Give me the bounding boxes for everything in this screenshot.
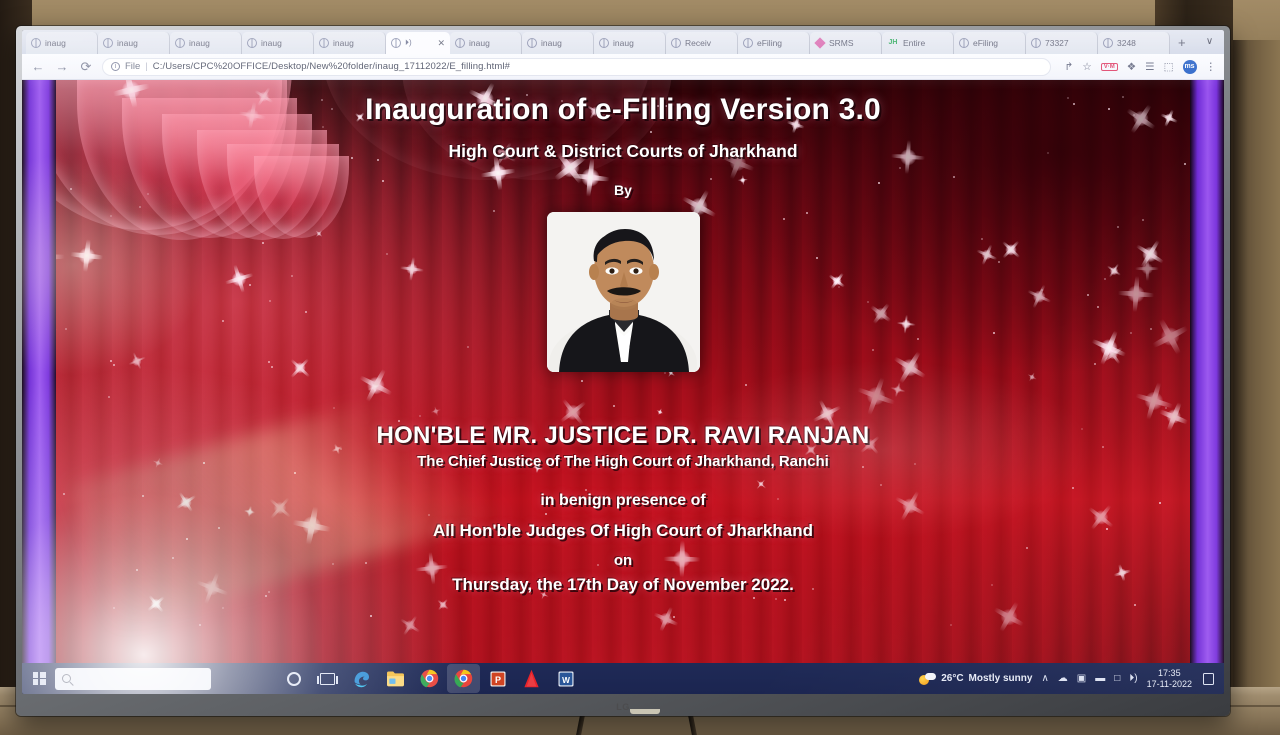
globe-icon [391, 38, 401, 48]
tab-strip: inauginauginauginauginaug⏵)✕inauginaugin… [22, 30, 1224, 54]
tab-label: inaug [613, 38, 634, 48]
tab-label: 73327 [1045, 38, 1069, 48]
network-icon[interactable]: □ [1114, 673, 1120, 684]
globe-icon [527, 38, 537, 48]
notifications-icon[interactable] [1203, 673, 1214, 685]
tabs-container: inauginauginauginauginaug⏵)✕inauginaugin… [26, 32, 1170, 54]
browser-tab[interactable]: 3248 [1098, 32, 1170, 54]
diamond-icon [814, 37, 825, 48]
back-icon[interactable]: ← [30, 59, 46, 74]
browser-tab[interactable]: eFiling [954, 32, 1026, 54]
chief-justice-portrait [547, 212, 700, 372]
browser-tab[interactable]: inaug [522, 32, 594, 54]
acrobat-icon[interactable] [521, 668, 542, 689]
tab-label: inaug [469, 38, 490, 48]
globe-icon [599, 38, 609, 48]
portrait-illustration [547, 212, 700, 372]
globe-icon [319, 38, 329, 48]
tv-ir-receiver [630, 709, 660, 714]
address-bar[interactable]: i File | C:/Users/CPC%20OFFICE/Desktop/N… [102, 58, 1051, 76]
globe-icon [31, 38, 41, 48]
slide-text-content: Inauguration of e-Filling Version 3.0 Hi… [22, 80, 1224, 663]
svg-text:P: P [494, 674, 500, 684]
browser-window: inauginauginauginauginaug⏵)✕inauginaugin… [22, 30, 1224, 694]
browser-tab[interactable]: inaug [26, 32, 98, 54]
tab-label: Receiv [685, 38, 711, 48]
browser-tab[interactable]: 73327 [1026, 32, 1098, 54]
url-text: C:/Users/CPC%20OFFICE/Desktop/New%20fold… [153, 61, 510, 72]
tab-label: eFiling [757, 38, 782, 48]
tab-label: inaug [117, 38, 138, 48]
tab-label: Entire [903, 38, 925, 48]
globe-icon [671, 38, 681, 48]
window-controls: ∨ — ❑ ✕ [1194, 30, 1224, 54]
tab-label: eFiling [973, 38, 998, 48]
television-display: inauginauginauginauginaug⏵)✕inauginaugin… [16, 26, 1230, 716]
browser-tab[interactable]: eFiling [738, 32, 810, 54]
slide-title: Inauguration of e-Filling Version 3.0 [365, 93, 881, 127]
tab-mute-icon[interactable]: ⏵) [405, 38, 412, 48]
on-label: on [614, 552, 632, 569]
split-screen-icon[interactable]: ⬚ [1164, 61, 1174, 73]
tab-label: 3248 [1117, 38, 1136, 48]
globe-icon [1103, 38, 1113, 48]
weather-condition: Mostly sunny [969, 673, 1033, 684]
task-view-icon[interactable] [317, 668, 338, 689]
forward-icon[interactable]: → [54, 59, 70, 74]
tab-label: inaug [333, 38, 354, 48]
volume-icon[interactable]: ⏵) [1129, 673, 1137, 684]
new-tab-button[interactable]: + [1170, 32, 1194, 54]
powerpoint-icon[interactable]: P [487, 668, 508, 689]
clock-time: 17:35 [1147, 668, 1192, 678]
globe-icon [455, 38, 465, 48]
browser-tab[interactable]: ⏵)✕ [386, 32, 450, 54]
browser-tab[interactable]: inaug [594, 32, 666, 54]
judge-designation: The Chief Justice of The High Court of J… [417, 453, 829, 470]
tv-brand-logo: LG [616, 702, 630, 712]
chrome-icon[interactable] [419, 668, 440, 689]
browser-tab[interactable]: inaug [242, 32, 314, 54]
jh-icon: JH [887, 38, 899, 48]
word-icon[interactable]: W [555, 668, 576, 689]
presence-line: in benign presence of [540, 492, 705, 510]
chrome-active-icon[interactable] [453, 668, 474, 689]
svg-text:W: W [562, 675, 570, 684]
tv-screen: inauginauginauginauginaug⏵)✕inauginaugin… [22, 30, 1224, 694]
event-date: Thursday, the 17th Day of November 2022. [452, 575, 794, 595]
slide-subtitle: High Court & District Courts of Jharkhan… [448, 141, 797, 162]
reload-icon[interactable]: ⟳ [78, 59, 94, 75]
by-label: By [614, 182, 632, 198]
tab-label: inaug [189, 38, 210, 48]
judges-line: All Hon'ble Judges Of High Court of Jhar… [433, 521, 813, 541]
teams-icon[interactable]: ▣ [1077, 673, 1086, 684]
favorite-star-icon[interactable]: ☆ [1082, 61, 1091, 73]
extensions-puzzle-icon[interactable]: ❖ [1127, 61, 1136, 73]
site-info-icon[interactable]: i [111, 62, 120, 71]
clock[interactable]: 17:35 17-11-2022 [1147, 668, 1192, 688]
browser-tab[interactable]: JHEntire [882, 32, 954, 54]
globe-icon [247, 38, 257, 48]
tab-list-chevron-icon[interactable]: ∨ [1194, 30, 1224, 54]
weather-widget[interactable]: 26°C Mostly sunny [919, 672, 1032, 686]
tab-label: inaug [541, 38, 562, 48]
clock-date: 17-11-2022 [1147, 679, 1192, 689]
edge-icon[interactable] [351, 668, 372, 689]
taskbar-apps: P W [283, 668, 576, 689]
tray-chevron-icon[interactable]: ∧ [1041, 673, 1048, 684]
globe-icon [103, 38, 113, 48]
search-input[interactable]: Type here to search [55, 668, 211, 690]
windows-logo-icon [33, 672, 46, 685]
sun-cloud-icon [919, 672, 936, 686]
toolbar-actions: ↱ ☆ V·M ❖ ☰ ⬚ ms ⋮ [1059, 60, 1217, 74]
browser-tab[interactable]: inaug [450, 32, 522, 54]
file-explorer-icon[interactable] [385, 668, 406, 689]
search-icon [62, 674, 71, 683]
omnibox-separator: | [145, 61, 147, 72]
presentation-slide: Inauguration of e-Filling Version 3.0 Hi… [22, 80, 1224, 663]
weather-temperature: 26°C [941, 673, 963, 684]
globe-icon [959, 38, 969, 48]
system-tray: 26°C Mostly sunny ∧ ☁ ▣ ▬ □ ⏵) 17:35 17-… [919, 668, 1220, 688]
browser-tab[interactable]: inaug [314, 32, 386, 54]
globe-icon [1031, 38, 1041, 48]
judge-name: HON'BLE MR. JUSTICE DR. RAVI RANJAN [376, 422, 869, 450]
profile-avatar[interactable]: ms [1183, 60, 1197, 74]
collections-icon[interactable]: ☰ [1145, 61, 1154, 73]
battery-icon[interactable]: ▬ [1095, 673, 1105, 684]
share-icon[interactable]: ↱ [1065, 61, 1074, 73]
browser-tab[interactable]: SRMS [810, 32, 882, 54]
extension-badge-icon[interactable]: V·M [1101, 63, 1118, 71]
tab-label: inaug [45, 38, 66, 48]
browser-toolbar: ← → ⟳ i File | C:/Users/CPC%20OFFICE/Des… [22, 54, 1224, 80]
tab-label: inaug [261, 38, 282, 48]
globe-icon [743, 38, 753, 48]
file-scheme-label: File [125, 61, 140, 72]
tab-close-icon[interactable]: ✕ [437, 38, 445, 49]
settings-more-icon[interactable]: ⋮ [1206, 61, 1217, 73]
cortana-icon[interactable] [283, 668, 304, 689]
onedrive-icon[interactable]: ☁ [1058, 673, 1068, 684]
browser-tab[interactable]: Receiv [666, 32, 738, 54]
browser-tab[interactable]: inaug [170, 32, 242, 54]
browser-tab[interactable]: inaug [98, 32, 170, 54]
windows-taskbar: Type here to search [22, 663, 1224, 694]
globe-icon [175, 38, 185, 48]
tab-label: SRMS [829, 38, 854, 48]
start-button[interactable] [26, 666, 52, 692]
